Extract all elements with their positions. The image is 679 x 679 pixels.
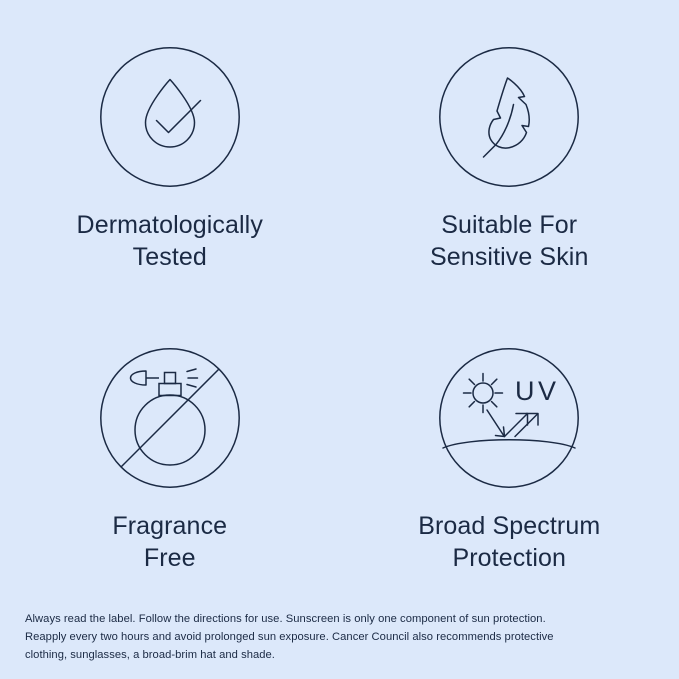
feature-broad-spectrum-protection: UV Broad Spectrum Protection: [340, 300, 679, 600]
feature-label: Dermatologically Tested: [77, 210, 263, 273]
disclaimer-text: Always read the label. Follow the direct…: [25, 610, 565, 664]
feature-label: Fragrance Free: [112, 511, 227, 574]
product-feature-infographic: Dermatologically Tested Suitable For Sen…: [0, 0, 679, 679]
feature-suitable-sensitive-skin: Suitable For Sensitive Skin: [340, 0, 679, 300]
feather-icon: [438, 46, 580, 188]
droplet-check-icon: [99, 46, 241, 188]
feature-label: Suitable For Sensitive Skin: [430, 210, 588, 273]
feature-dermatologically-tested: Dermatologically Tested: [0, 0, 340, 300]
feature-fragrance-free: Fragrance Free: [0, 300, 340, 600]
feature-grid: Dermatologically Tested Suitable For Sen…: [0, 0, 679, 600]
feature-label: Broad Spectrum Protection: [418, 511, 600, 574]
uv-label: UV: [515, 376, 560, 406]
uv-protection-icon: UV: [438, 347, 580, 489]
no-fragrance-icon: [99, 347, 241, 489]
